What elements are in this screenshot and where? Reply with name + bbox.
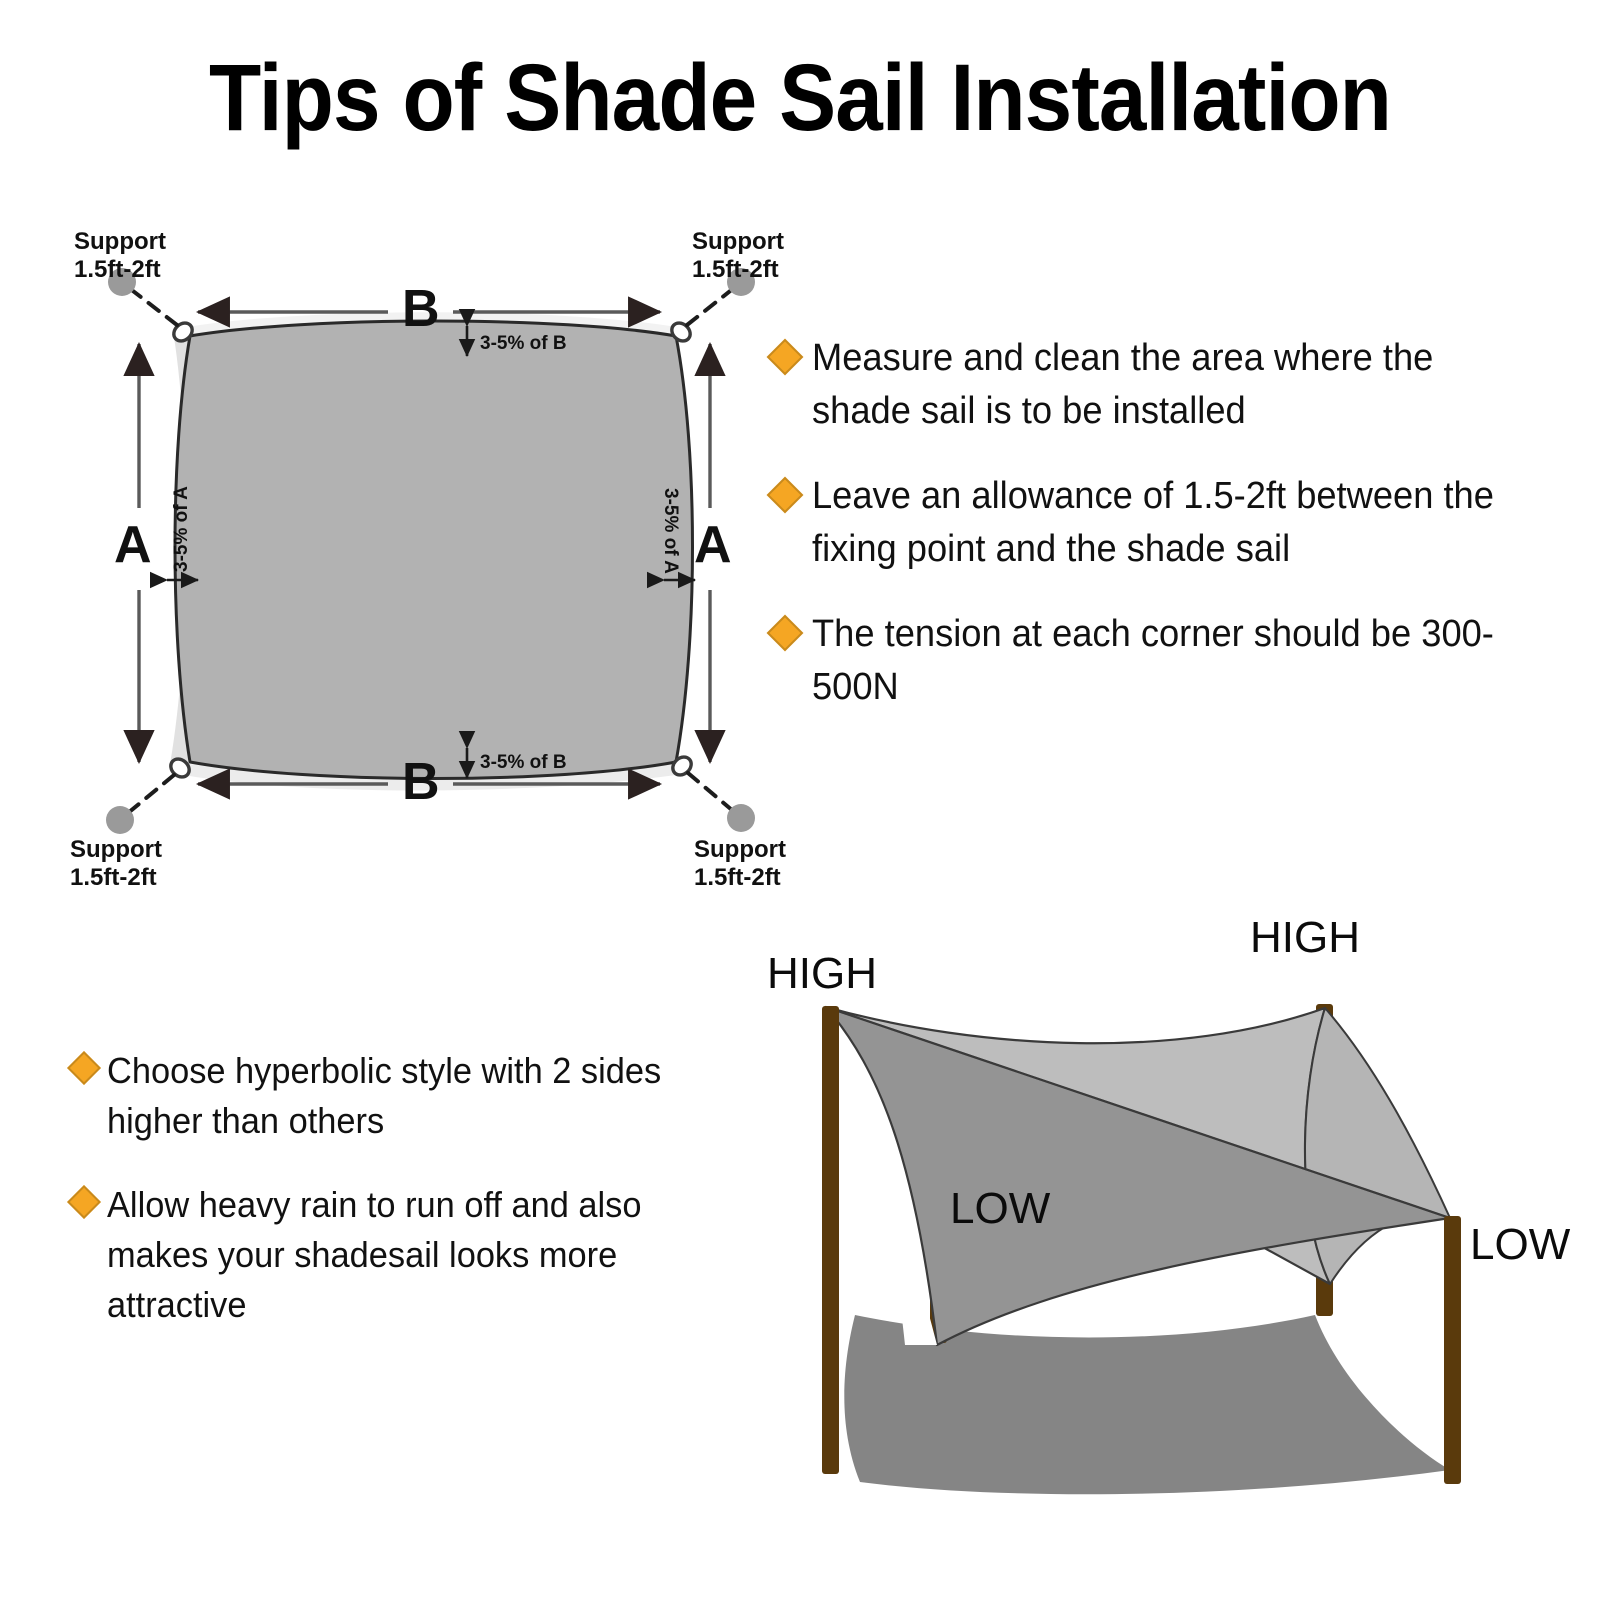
tip-text: Measure and clean the area where the sha… [812, 332, 1528, 438]
dimension-letter-b-top: B [402, 283, 440, 335]
support-label-line2: 1.5ft-2ft [694, 864, 786, 892]
curve-percent-b-bottom: 3-5% of B [480, 753, 567, 773]
ground-shadow-shape [844, 1315, 1450, 1494]
sail-panel-light-right [1305, 1008, 1450, 1284]
tip-item: Measure and clean the area where the sha… [772, 332, 1562, 438]
sail-panel-dark [826, 1007, 1450, 1345]
support-label-bottom-left: Support 1.5ft-2ft [70, 836, 162, 892]
curve-percent-a-right: 3-5% of A [660, 488, 680, 574]
tip-item: The tension at each corner should be 300… [772, 608, 1562, 714]
support-label-line2: 1.5ft-2ft [692, 256, 784, 284]
shade-sail-shape [175, 321, 693, 779]
diamond-bullet-icon [67, 1185, 101, 1219]
tip-text: Choose hyperbolic style with 2 sides hig… [107, 1046, 742, 1146]
tips-list-bottom-left: Choose hyperbolic style with 2 sides hig… [72, 1046, 772, 1364]
support-line-bottom-right [688, 773, 739, 816]
pole-label-low-right: LOW [1470, 1222, 1570, 1268]
tip-text: Leave an allowance of 1.5-2ft between th… [812, 470, 1528, 576]
support-line-bottom-left [122, 775, 174, 818]
pole-label-high-right: HIGH [1250, 915, 1360, 961]
support-label-top-left: Support 1.5ft-2ft [74, 228, 166, 284]
dimension-letter-a-right: A [694, 519, 732, 571]
tip-item: Choose hyperbolic style with 2 sides hig… [72, 1046, 772, 1146]
dimension-letter-b-bottom: B [402, 756, 440, 808]
page-title: Tips of Shade Sail Installation [80, 46, 1520, 150]
diamond-bullet-icon [767, 339, 804, 376]
curve-percent-a-left: 3-5% of A [172, 486, 192, 572]
support-dot-bottom-right [727, 804, 755, 832]
sail-left-edge-curve [818, 1007, 937, 1345]
pole-high-right [1316, 1004, 1333, 1316]
pole-label-low-left: LOW [950, 1186, 1050, 1232]
support-label-line1: Support [692, 228, 784, 256]
support-label-line2: 1.5ft-2ft [74, 256, 166, 284]
sail-edge-highlight [178, 317, 682, 784]
corner-ring-group [167, 319, 695, 780]
pole-label-high-left: HIGH [767, 951, 877, 997]
support-line-top-left [124, 284, 177, 325]
support-label-top-right: Support 1.5ft-2ft [692, 228, 784, 284]
corner-ring-top-left [170, 319, 196, 344]
support-line-top-right [687, 284, 739, 325]
diamond-bullet-icon [67, 1051, 101, 1085]
sail-fold-line [826, 1007, 1450, 1218]
tip-item: Allow heavy rain to run off and also mak… [72, 1180, 772, 1330]
corner-ring-top-right [668, 319, 694, 344]
tip-text: The tension at each corner should be 300… [812, 608, 1528, 714]
pole-high-left [822, 1006, 839, 1474]
curve-depth-indicators [167, 326, 695, 778]
corner-ring-bottom-left [167, 755, 193, 780]
support-label-line1: Support [74, 228, 166, 256]
tip-item: Leave an allowance of 1.5-2ft between th… [772, 470, 1562, 576]
dimension-letter-a-left: A [114, 519, 152, 571]
support-label-bottom-right: Support 1.5ft-2ft [694, 836, 786, 892]
support-label-line1: Support [694, 836, 786, 864]
corner-ring-bottom-right [669, 753, 695, 778]
pole-low-right [1444, 1216, 1461, 1484]
pole-low-left [930, 1143, 947, 1343]
support-label-line1: Support [70, 836, 162, 864]
tips-list-right: Measure and clean the area where the sha… [772, 332, 1562, 746]
support-anchor-group [106, 268, 755, 834]
support-label-line2: 1.5ft-2ft [70, 864, 162, 892]
curve-percent-b-top: 3-5% of B [480, 334, 567, 354]
diamond-bullet-icon [767, 477, 804, 514]
infographic-page: Tips of Shade Sail Installation [0, 0, 1600, 1600]
diamond-bullet-icon [767, 615, 804, 652]
sail-panel-light [826, 1007, 1330, 1284]
tip-text: Allow heavy rain to run off and also mak… [107, 1180, 742, 1330]
support-dot-bottom-left [106, 806, 134, 834]
